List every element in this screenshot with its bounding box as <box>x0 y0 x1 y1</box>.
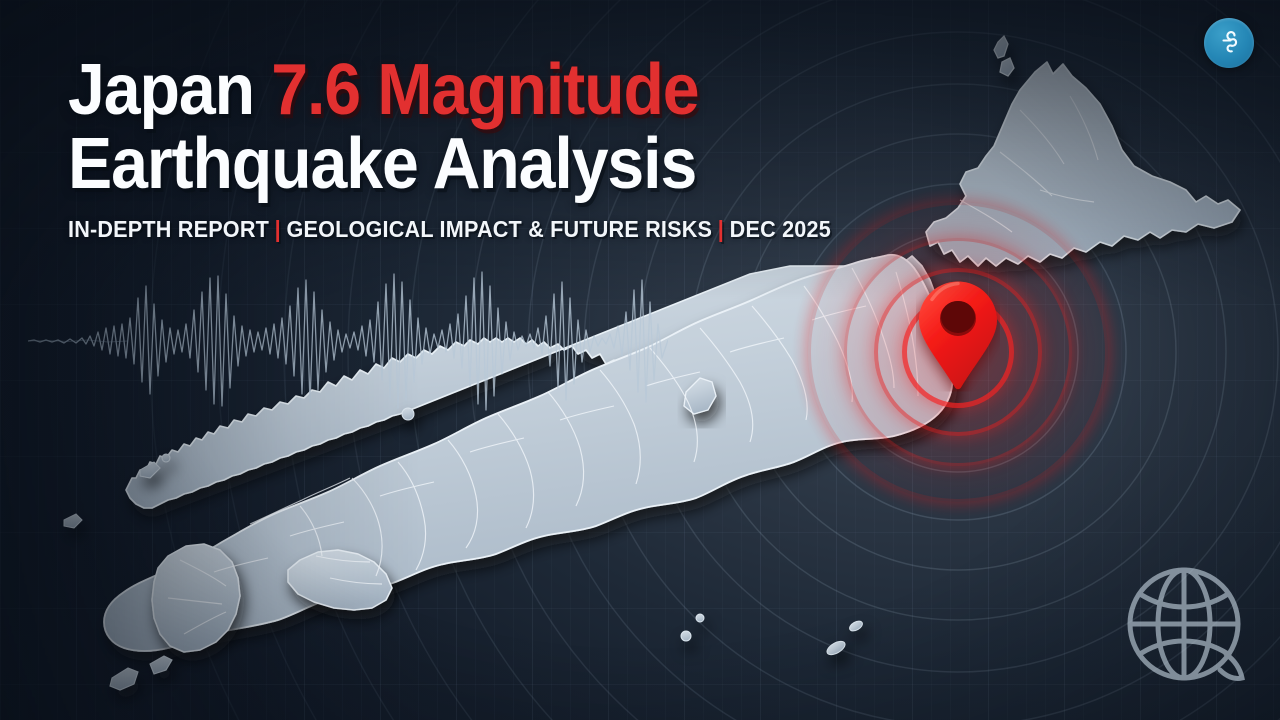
headline-line-2: Earthquake Analysis <box>68 130 896 200</box>
headline-line-1: Japan 7.6 Magnitude <box>68 56 896 126</box>
map-pin-icon[interactable] <box>916 279 1000 396</box>
brand-logo[interactable] <box>1204 18 1254 68</box>
shockwave-ring-1 <box>902 296 1014 408</box>
seismograph-waveform <box>28 258 668 423</box>
shockwave-ring-3 <box>844 238 1072 466</box>
globe-icon <box>1122 562 1258 698</box>
subtitle-bar: IN-DEPTH REPORT|GEOLOGICAL IMPACT & FUTU… <box>68 216 914 243</box>
headline-block: Japan 7.6 Magnitude Earthquake Analysis … <box>68 56 968 243</box>
shockwave-ring-2 <box>874 268 1042 436</box>
shockwave-ring-4 <box>808 202 1108 502</box>
subtitle-item-report: IN-DEPTH REPORT <box>68 216 269 242</box>
headline-country: Japan <box>68 50 271 130</box>
subtitle-item-date: DEC 2025 <box>730 216 831 242</box>
headline-magnitude: 7.6 Magnitude <box>271 50 698 130</box>
subtitle-separator-1: | <box>269 216 287 242</box>
subtitle-separator-2: | <box>712 216 730 242</box>
subtitle-item-impact: GEOLOGICAL IMPACT & FUTURE RISKS <box>287 216 713 242</box>
earthquake-analysis-poster: Japan 7.6 Magnitude Earthquake Analysis … <box>0 0 1280 720</box>
